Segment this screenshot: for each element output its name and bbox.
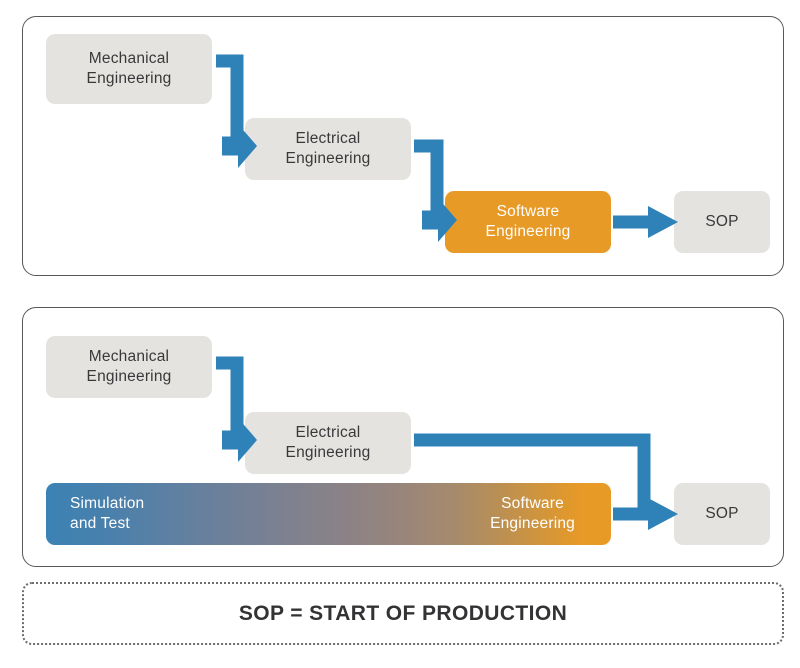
node-label-line2: Engineering xyxy=(286,149,371,169)
footer-legend-box: SOP = START OF PRODUCTION xyxy=(22,582,784,645)
node-p2-sop[interactable]: SOP xyxy=(674,483,770,545)
node-p1-mechanical-engineering[interactable]: Mechanical Engineering xyxy=(46,34,212,104)
band-label-line2: and Test xyxy=(70,515,130,532)
node-p1-sop[interactable]: SOP xyxy=(674,191,770,253)
node-label-line1: SOP xyxy=(705,212,738,232)
node-label-line1: Electrical xyxy=(296,129,361,149)
node-label-line1: Electrical xyxy=(296,423,361,443)
node-label-line2: Engineering xyxy=(286,443,371,463)
band-label-software-engineering: Software Engineering xyxy=(490,494,575,534)
band-label-line1: Software xyxy=(501,495,564,512)
node-label-line1: Software xyxy=(497,202,560,222)
node-label-line2: Engineering xyxy=(87,367,172,387)
node-p1-electrical-engineering[interactable]: Electrical Engineering xyxy=(245,118,411,180)
band-label-line1: Simulation xyxy=(70,495,144,512)
node-p2-mechanical-engineering[interactable]: Mechanical Engineering xyxy=(46,336,212,398)
band-label-line2: Engineering xyxy=(490,515,575,532)
band-label-simulation-and-test: Simulation and Test xyxy=(70,494,144,534)
node-label-line2: Engineering xyxy=(486,222,571,242)
node-label-line2: Engineering xyxy=(87,69,172,89)
diagram-canvas: Mechanical Engineering Electrical Engine… xyxy=(0,0,800,668)
node-label-line1: SOP xyxy=(705,504,738,524)
footer-legend-label: SOP = START OF PRODUCTION xyxy=(239,602,567,626)
node-p2-electrical-engineering[interactable]: Electrical Engineering xyxy=(245,412,411,474)
node-p2-simulation-software-band[interactable]: Simulation and Test Software Engineering xyxy=(46,483,611,545)
node-label-line1: Mechanical xyxy=(89,49,169,69)
node-p1-software-engineering[interactable]: Software Engineering xyxy=(445,191,611,253)
node-label-line1: Mechanical xyxy=(89,347,169,367)
